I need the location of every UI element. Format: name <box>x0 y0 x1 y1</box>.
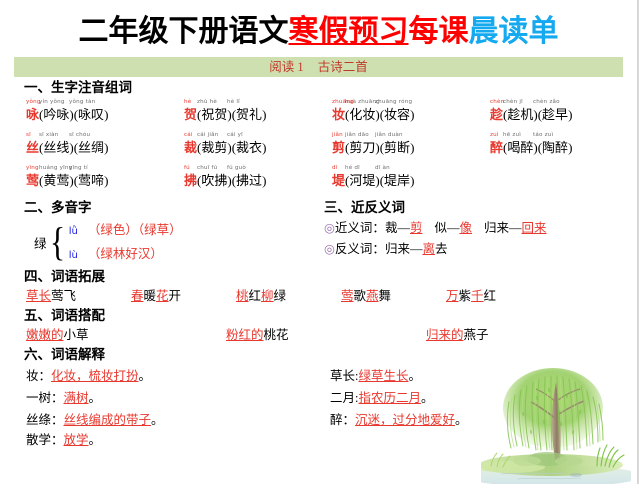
banner-reading-label: 阅读 1 <box>269 60 303 74</box>
polyphone-row: lù（绿林好汉） <box>69 242 182 266</box>
pinyin-line: yīnghuáng yīngyīng tí <box>26 164 184 172</box>
idiom-item: 春暖花开 <box>131 287 236 305</box>
page-title: 二年级下册语文寒假预习每课晨读单 <box>0 0 637 49</box>
section-heading-new-characters: 一、生字注音组词 <box>24 80 637 97</box>
character-entry: sīsī xiànsī chóu 丝(丝线)(丝绸) <box>26 131 184 161</box>
character-words: 拂(吹拂)(拂过) <box>184 172 332 189</box>
collocation-item: 嫩嫩的小草 <box>26 326 226 344</box>
pinyin-line: cáicái jiǎncái yī <box>184 131 332 139</box>
section-heading-word-expansion: 四、词语拓展 <box>24 269 637 286</box>
worksheet-page: 二年级下册语文寒假预习每课晨读单 阅读 1古诗二首 一、生字注音组词 yǒngy… <box>0 0 639 484</box>
character-words: 妆(化妆)(妆容) <box>332 106 490 123</box>
character-words: 莺(黄莺)(莺啼) <box>26 172 184 189</box>
title-part-morning-reading: 晨读单 <box>469 15 559 48</box>
sections-2-3-row: 二、多音字 绿 { lǜ（绿色）（绿草） lù（绿林好汉） 三、近反义词 ◎近义… <box>0 197 637 266</box>
idiom-item: 万紫千红 <box>446 287 551 305</box>
character-entry: chènchèn jīchèn zǎo 趁(趁机)(趁早) <box>490 98 620 128</box>
character-words: 堤(河堤)(堤岸) <box>332 172 490 189</box>
explanation-row: 妆：化妆，梳妆打扮。 <box>26 365 326 387</box>
antonyms-row: ◎反义词：归来—离去 <box>324 239 636 260</box>
character-entry: yīnghuáng yīngyīng tí 莺(黄莺)(莺啼) <box>26 164 184 194</box>
character-words: 咏(吟咏)(咏叹) <box>26 106 184 123</box>
explanations-right-column: 草长:绿草生长。 二月:指农历二月。 醉：沉迷，过分地爱好。 <box>326 365 630 450</box>
brace-icon: { <box>49 222 64 262</box>
title-part-winter-preview: 寒假预习 <box>289 15 409 48</box>
bullet-icon: ◎ <box>324 242 335 256</box>
explanation-row: 丝绦：丝线编成的带子。 <box>26 409 326 431</box>
explanation-row: 散学：放学。 <box>26 431 326 450</box>
character-row: yīnghuáng yīngyīng tí 莺(黄莺)(莺啼) fúchuī f… <box>26 164 626 194</box>
character-entry: yǒngyín yǒngyǒng tàn 咏(吟咏)(咏叹) <box>26 98 184 128</box>
section-polyphone: 二、多音字 绿 { lǜ（绿色）（绿草） lù（绿林好汉） <box>0 197 318 266</box>
polyphone-character: 绿 <box>34 233 47 252</box>
character-entry: dīhé dīdī àn 堤(河堤)(堤岸) <box>332 164 490 194</box>
new-characters-grid: yǒngyín yǒngyǒng tàn 咏(吟咏)(咏叹) hèzhù hèh… <box>26 98 626 194</box>
section-synonyms: 三、近反义词 ◎近义词：裁—剪似—像归来—回来 ◎反义词：归来—离去 <box>318 197 636 266</box>
character-words: 裁(裁剪)(裁衣) <box>184 139 332 156</box>
character-entry: zuìhē zuìtáo zuì 醉(喝醉)(陶醉) <box>490 131 620 161</box>
character-entry: fúchuī fúfú guò 拂(吹拂)(拂过) <box>184 164 332 194</box>
near-synonyms-row: ◎近义词：裁—剪似—像归来—回来 <box>324 218 636 239</box>
pinyin-line: jiǎnjiǎn dāojiǎn duàn <box>332 131 490 139</box>
lesson-banner: 阅读 1古诗二首 <box>14 57 623 77</box>
explanation-row: 一树：满树。 <box>26 387 326 409</box>
section-heading-polyphone: 二、多音字 <box>24 200 318 217</box>
character-entry: cáicái jiǎncái yī 裁(裁剪)(裁衣) <box>184 131 332 161</box>
bullet-icon: ◎ <box>324 221 335 235</box>
idiom-item: 桃红柳绿 <box>236 287 341 305</box>
section-heading-collocations: 五、词语搭配 <box>24 308 637 325</box>
idioms-list: 草长莺飞 春暖花开 桃红柳绿 莺歌燕舞 万紫千红 <box>26 287 637 305</box>
pinyin-line: yǒngyín yǒngyǒng tàn <box>26 98 184 106</box>
pinyin-line: sīsī xiànsī chóu <box>26 131 184 139</box>
character-row: yǒngyín yǒngyǒng tàn 咏(吟咏)(咏叹) hèzhù hèh… <box>26 98 626 128</box>
explanations-block: 妆：化妆，梳妆打扮。 一树：满树。 丝绦：丝线编成的带子。 散学：放学。 草长:… <box>26 365 637 450</box>
explanation-row: 醉：沉迷，过分地爱好。 <box>330 409 630 431</box>
explanation-row: 草长:绿草生长。 <box>330 365 630 387</box>
character-row: sīsī xiànsī chóu 丝(丝线)(丝绸) cáicái jiǎncá… <box>26 131 626 161</box>
character-words: 丝(丝线)(丝绸) <box>26 139 184 156</box>
section-heading-word-explanations: 六、词语解释 <box>24 347 637 364</box>
polyphone-block: 绿 { lǜ（绿色）（绿草） lù（绿林好汉） <box>34 218 318 266</box>
character-words: 剪(剪刀)(剪断) <box>332 139 490 156</box>
pinyin-line: chènchèn jīchèn zǎo <box>490 98 620 106</box>
polyphone-row: lǜ（绿色）（绿草） <box>69 218 182 242</box>
pinyin-line: dīhé dīdī àn <box>332 164 490 172</box>
pinyin-line: fúchuī fúfú guò <box>184 164 332 172</box>
character-words: 趁(趁机)(趁早) <box>490 106 620 123</box>
character-entry: hèzhù hèhè lǐ 贺(祝贺)(贺礼) <box>184 98 332 128</box>
collocation-item: 归来的燕子 <box>426 326 626 344</box>
idiom-item: 莺歌燕舞 <box>341 287 446 305</box>
character-words: 醉(喝醉)(陶醉) <box>490 139 620 156</box>
section-heading-synonyms: 三、近反义词 <box>324 200 636 217</box>
pinyin-line: zhuānghuà zhuāngzhuāng róng <box>332 98 490 106</box>
pinyin-line: zuìhē zuìtáo zuì <box>490 131 620 139</box>
idiom-item: 草长莺飞 <box>26 287 131 305</box>
character-entry: zhuānghuà zhuāngzhuāng róng 妆(化妆)(妆容) <box>332 98 490 128</box>
title-part-each-lesson: 每课 <box>409 15 469 48</box>
character-words: 贺(祝贺)(贺礼) <box>184 106 332 123</box>
explanations-left-column: 妆：化妆，梳妆打扮。 一树：满树。 丝绦：丝线编成的带子。 散学：放学。 <box>26 365 326 450</box>
character-entry: jiǎnjiǎn dāojiǎn duàn 剪(剪刀)(剪断) <box>332 131 490 161</box>
title-part-grade: 二年级下册语文 <box>79 15 289 48</box>
banner-lesson-title: 古诗二首 <box>318 60 368 74</box>
collocation-item: 粉红的桃花 <box>226 326 426 344</box>
explanation-row: 二月:指农历二月。 <box>330 387 630 409</box>
pinyin-line: hèzhù hèhè lǐ <box>184 98 332 106</box>
collocations-list: 嫩嫩的小草 粉红的桃花 归来的燕子 <box>26 326 637 344</box>
